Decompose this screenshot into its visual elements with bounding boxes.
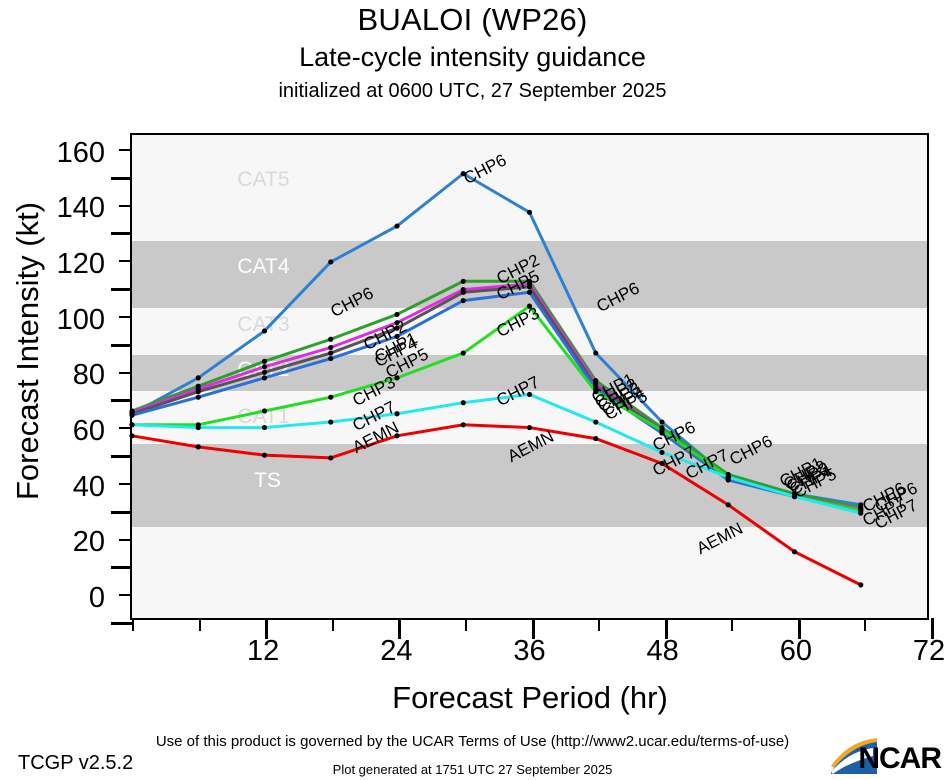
data-point: [262, 375, 267, 380]
data-point: [262, 359, 267, 364]
y-tick-label: 0: [0, 582, 105, 615]
version-text: TCGP v2.5.2: [18, 752, 133, 775]
y-tick-major: [111, 622, 132, 625]
x-tick-minor: [864, 618, 866, 631]
data-point: [129, 433, 134, 438]
data-point: [461, 279, 466, 284]
data-point: [196, 444, 201, 449]
data-point: [328, 259, 333, 264]
data-point: [196, 395, 201, 400]
x-tick-label: 12: [203, 635, 323, 668]
data-point: [328, 419, 333, 424]
y-tick-major: [111, 455, 132, 458]
x-tick-minor: [731, 618, 733, 631]
data-point: [858, 582, 863, 587]
y-tick-minor: [119, 372, 132, 374]
data-point: [461, 350, 466, 355]
page-title: BUALOI (WP26): [0, 2, 945, 38]
y-tick-label: 140: [0, 192, 105, 225]
y-tick-label: 60: [0, 415, 105, 448]
data-point: [196, 375, 201, 380]
data-point: [328, 356, 333, 361]
y-tick-minor: [119, 260, 132, 262]
data-point: [262, 425, 267, 430]
data-point: [461, 422, 466, 427]
x-tick-minor: [332, 618, 334, 631]
y-tick-minor: [119, 149, 132, 151]
data-point: [593, 436, 598, 441]
y-tick-minor: [119, 483, 132, 485]
x-tick-label: 36: [470, 635, 590, 668]
x-axis-title: Forecast Period (hr): [130, 680, 930, 716]
data-point: [659, 419, 664, 424]
terms-of-use-text: Use of this product is governed by the U…: [0, 733, 945, 750]
y-tick-major: [111, 344, 132, 347]
x-tick-minor: [199, 618, 201, 631]
y-tick-minor: [119, 539, 132, 541]
data-point: [328, 455, 333, 460]
x-tick-label: 60: [736, 635, 856, 668]
y-tick-minor: [119, 427, 132, 429]
data-point: [726, 475, 731, 480]
y-tick-major: [111, 232, 132, 235]
y-tick-label: 160: [0, 137, 105, 170]
data-point: [461, 400, 466, 405]
data-point: [593, 350, 598, 355]
data-point: [726, 502, 731, 507]
y-tick-label: 40: [0, 471, 105, 504]
chart-init-time: initialized at 0600 UTC, 27 September 20…: [0, 80, 945, 103]
data-point: [262, 364, 267, 369]
chart-subtitle: Late-cycle intensity guidance: [0, 42, 945, 73]
generated-text: Plot generated at 1751 UTC 27 September …: [0, 762, 945, 777]
y-tick-label: 100: [0, 304, 105, 337]
chart-plot-area: CAT5CAT4CAT3CAT2CAT1TS CHP6CHP6CHP6CHP6C…: [130, 133, 929, 620]
data-point: [461, 290, 466, 295]
x-tick-minor: [598, 618, 600, 631]
data-point: [196, 389, 201, 394]
x-tick-label: 48: [603, 635, 723, 668]
data-point: [262, 453, 267, 458]
ncar-logo-text: NCAR: [858, 742, 941, 776]
y-tick-label: 20: [0, 526, 105, 559]
x-tick-minor: [465, 618, 467, 631]
data-point: [262, 328, 267, 333]
data-point: [593, 419, 598, 424]
data-point: [262, 408, 267, 413]
data-point: [328, 350, 333, 355]
data-point: [461, 298, 466, 303]
y-tick-major: [111, 288, 132, 291]
data-point: [262, 370, 267, 375]
y-tick-major: [111, 399, 132, 402]
x-tick-label: 72: [869, 635, 945, 668]
y-tick-label: 120: [0, 248, 105, 281]
data-point: [394, 224, 399, 229]
y-tick-minor: [119, 205, 132, 207]
y-tick-minor: [119, 316, 132, 318]
y-tick-major: [111, 177, 132, 180]
data-point: [196, 425, 201, 430]
x-tick-label: 24: [336, 635, 456, 668]
y-tick-major: [111, 566, 132, 569]
y-tick-minor: [119, 594, 132, 596]
data-point: [792, 549, 797, 554]
x-tick-minor: [132, 618, 134, 631]
data-point: [328, 337, 333, 342]
data-point: [129, 413, 134, 418]
y-tick-label: 80: [0, 359, 105, 392]
data-point: [328, 395, 333, 400]
data-point: [328, 345, 333, 350]
data-point: [527, 425, 532, 430]
y-tick-major: [111, 511, 132, 514]
data-point: [527, 210, 532, 215]
